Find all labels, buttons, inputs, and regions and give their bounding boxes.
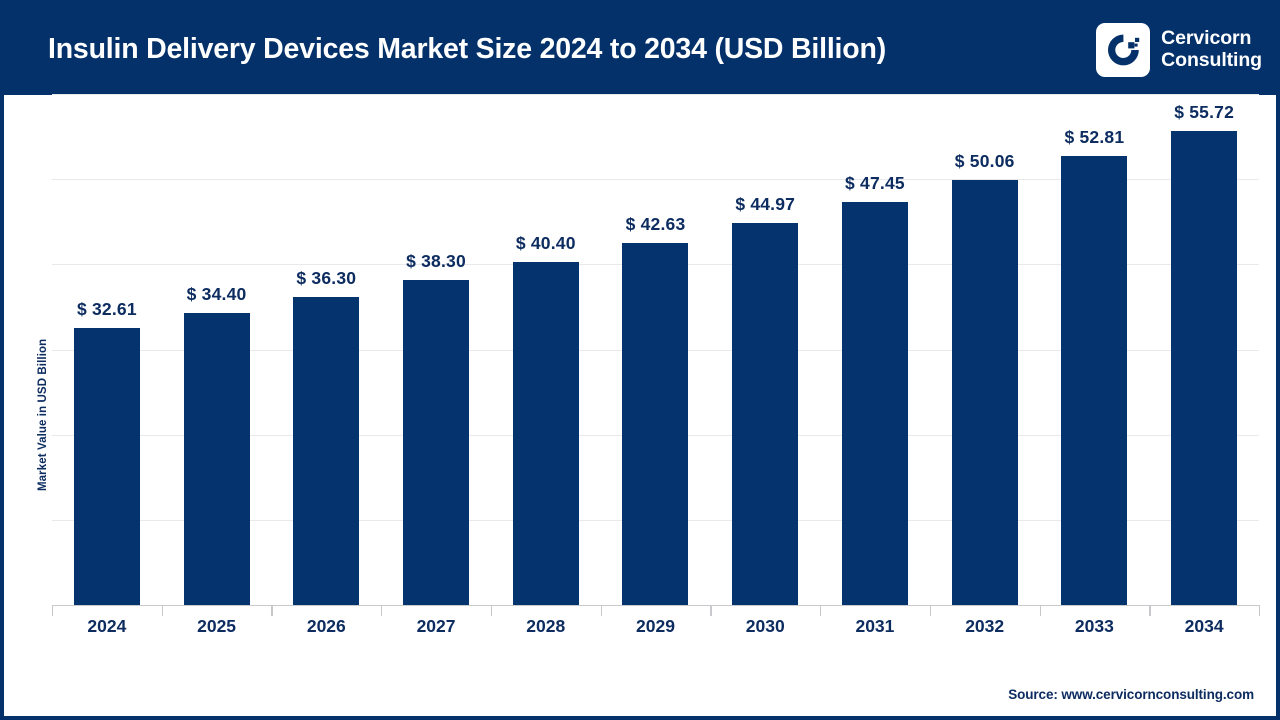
- bar-group: $ 32.612024: [52, 95, 162, 606]
- x-axis-tick-label: 2027: [417, 616, 456, 637]
- bar[interactable]: [732, 223, 798, 606]
- bar-value-label: $ 40.40: [516, 233, 576, 254]
- bar-value-label: $ 44.97: [735, 194, 795, 215]
- bar-value-label: $ 52.81: [1064, 127, 1124, 148]
- brand-logo: Cervicorn Consulting: [1096, 23, 1262, 77]
- bar[interactable]: [74, 328, 140, 606]
- bar-group: $ 55.722034: [1149, 95, 1259, 606]
- x-axis-tick: [601, 605, 602, 616]
- x-axis-tick-label: 2024: [87, 616, 126, 637]
- bar[interactable]: [403, 280, 469, 606]
- x-axis-tick: [1259, 605, 1260, 616]
- bar[interactable]: [293, 297, 359, 606]
- bar-value-label: $ 47.45: [845, 173, 905, 194]
- cervicorn-c-logo-icon: [1096, 23, 1150, 77]
- x-axis-line: [52, 605, 1259, 606]
- x-axis-tick-label: 2031: [855, 616, 894, 637]
- brand-name-line2: Consulting: [1161, 50, 1262, 72]
- x-axis-tick: [930, 605, 931, 616]
- x-axis-tick-label: 2029: [636, 616, 675, 637]
- bar-group: $ 36.302026: [271, 95, 381, 606]
- bar-group: $ 52.812033: [1040, 95, 1150, 606]
- bar-group: $ 47.452031: [820, 95, 930, 606]
- bar-group: $ 44.972030: [710, 95, 820, 606]
- brand-logo-text: Cervicorn Consulting: [1161, 28, 1262, 72]
- page-title: Insulin Delivery Devices Market Size 202…: [48, 35, 886, 64]
- bar-group: $ 50.062032: [930, 95, 1040, 606]
- x-axis-tick: [162, 605, 163, 616]
- bar-value-label: $ 36.30: [296, 268, 356, 289]
- x-axis-tick-label: 2030: [746, 616, 785, 637]
- bar-value-label: $ 34.40: [187, 284, 247, 305]
- bar-group: $ 42.632029: [601, 95, 711, 606]
- x-axis-tick: [491, 605, 492, 616]
- bar-value-label: $ 50.06: [955, 151, 1015, 172]
- bar[interactable]: [622, 243, 688, 606]
- x-axis-tick-label: 2026: [307, 616, 346, 637]
- x-axis-tick: [271, 605, 272, 616]
- x-axis-tick: [820, 605, 821, 616]
- chart-plot-area: Market Value in USD Billion $ 32.612024$…: [4, 95, 1276, 720]
- bar-group: $ 40.402028: [491, 95, 601, 606]
- bar[interactable]: [184, 313, 250, 606]
- bar[interactable]: [1171, 131, 1237, 606]
- x-axis-tick: [710, 605, 711, 616]
- bar[interactable]: [842, 202, 908, 606]
- source-attribution: Source: www.cervicornconsulting.com: [1008, 687, 1254, 702]
- bar-value-label: $ 32.61: [77, 299, 137, 320]
- brand-name-line1: Cervicorn: [1161, 28, 1262, 50]
- bar-group: $ 34.402025: [162, 95, 272, 606]
- bar-value-label: $ 42.63: [626, 214, 686, 235]
- x-axis-tick: [1149, 605, 1150, 616]
- x-axis-tick: [381, 605, 382, 616]
- x-axis-tick: [1040, 605, 1041, 616]
- x-axis-tick-label: 2028: [526, 616, 565, 637]
- infographic-chart-card: Insulin Delivery Devices Market Size 202…: [0, 0, 1280, 720]
- bar[interactable]: [952, 180, 1018, 606]
- x-axis-tick-label: 2025: [197, 616, 236, 637]
- x-axis-tick: [52, 605, 53, 616]
- x-axis-tick-label: 2034: [1185, 616, 1224, 637]
- bar-group: $ 38.302027: [381, 95, 491, 606]
- x-axis-tick-label: 2032: [965, 616, 1004, 637]
- bar-value-label: $ 38.30: [406, 251, 466, 272]
- x-axis-tick-label: 2033: [1075, 616, 1114, 637]
- bar[interactable]: [513, 262, 579, 606]
- bars-group: $ 32.612024$ 34.402025$ 36.302026$ 38.30…: [52, 95, 1259, 606]
- bar-value-label: $ 55.72: [1174, 102, 1234, 123]
- bar[interactable]: [1061, 156, 1127, 606]
- header-bar: Insulin Delivery Devices Market Size 202…: [4, 4, 1276, 95]
- y-axis-title: Market Value in USD Billion: [34, 255, 52, 575]
